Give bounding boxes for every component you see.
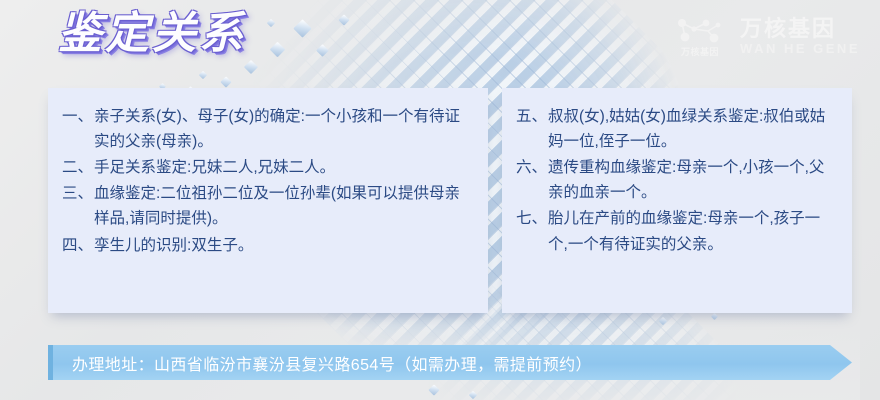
list-item: 一、 亲子关系(女)、母子(女)的确定:一个小孩和一个有待证实的父亲(母亲)。	[62, 104, 474, 154]
list-item: 七、 胎儿在产前的血缘鉴定:母亲一个,孩子一个,一个有待证实的父亲。	[516, 206, 838, 256]
scatter-cube-icon	[469, 391, 477, 399]
list-item-number: 三、	[62, 181, 94, 231]
list-item-text: 手足关系鉴定:兄妹二人,兄妹二人。	[94, 155, 474, 180]
brand-name-en: WAN HE GENE	[740, 42, 860, 56]
brand-name-cn: 万核基因	[740, 17, 860, 40]
content-panels: 一、 亲子关系(女)、母子(女)的确定:一个小孩和一个有待证实的父亲(母亲)。 …	[48, 88, 852, 313]
scatter-cube-icon	[293, 19, 311, 37]
list-item: 五、 叔叔(女),姑姑(女)血绿关系鉴定:叔伯或姑妈一位,侄子一位。	[516, 104, 838, 154]
list-item-number: 五、	[516, 104, 548, 154]
scatter-cube-icon	[220, 76, 231, 87]
molecule-network-icon	[674, 16, 726, 46]
scatter-cube-icon	[428, 384, 439, 395]
brand-mark: 万核基因	[674, 16, 726, 57]
list-item-number: 七、	[516, 206, 548, 256]
brand-wordmark: 万核基因 WAN HE GENE	[740, 17, 860, 56]
scatter-cube-icon	[270, 42, 286, 58]
list-item: 六、 遗传重构血缘鉴定:母亲一个,小孩一个,父亲的血亲一个。	[516, 155, 838, 205]
list-item-number: 一、	[62, 104, 94, 154]
address-ribbon: 办理地址：山西省临汾市襄汾县复兴路654号（如需办理，需提前预约）	[48, 345, 852, 380]
scatter-cube-icon	[659, 317, 667, 325]
list-item: 四、 孪生儿的识别:双生子。	[62, 233, 474, 258]
list-item: 三、 血缘鉴定:二位祖孙二位及一位孙辈(如果可以提供母亲样品,请同时提供)。	[62, 181, 474, 231]
scatter-cube-icon	[244, 60, 258, 74]
panel-left: 一、 亲子关系(女)、母子(女)的确定:一个小孩和一个有待证实的父亲(母亲)。 …	[48, 88, 488, 313]
scatter-cube-icon	[338, 14, 349, 25]
scatter-cube-icon	[199, 71, 207, 79]
scatter-cube-icon	[711, 313, 718, 320]
scatter-cube-icon	[316, 44, 329, 57]
scatter-cube-icon	[267, 19, 275, 27]
list-item-number: 二、	[62, 155, 94, 180]
address-ribbon-text: 办理地址：山西省临汾市襄汾县复兴路654号（如需办理，需提前预约）	[48, 351, 592, 375]
list-item: 二、 手足关系鉴定:兄妹二人,兄妹二人。	[62, 155, 474, 180]
list-item-text: 遗传重构血缘鉴定:母亲一个,小孩一个,父亲的血亲一个。	[548, 155, 838, 205]
list-item-text: 孪生儿的识别:双生子。	[94, 233, 474, 258]
panel-right: 五、 叔叔(女),姑姑(女)血绿关系鉴定:叔伯或姑妈一位,侄子一位。 六、 遗传…	[502, 88, 852, 313]
panel-divider-gap	[488, 88, 502, 313]
page-title-text: 鉴定关系	[58, 12, 246, 56]
list-item-text: 叔叔(女),姑姑(女)血绿关系鉴定:叔伯或姑妈一位,侄子一位。	[548, 104, 838, 154]
brand-logo: 万核基因 万核基因 WAN HE GENE	[674, 16, 860, 57]
brand-mark-label: 万核基因	[681, 48, 719, 57]
list-item-number: 六、	[516, 155, 548, 205]
list-item-number: 四、	[62, 233, 94, 258]
poster-root: 鉴定关系	[0, 0, 880, 400]
list-item-text: 胎儿在产前的血缘鉴定:母亲一个,孩子一个,一个有待证实的父亲。	[548, 206, 838, 256]
list-item-text: 亲子关系(女)、母子(女)的确定:一个小孩和一个有待证实的父亲(母亲)。	[94, 104, 474, 154]
page-title: 鉴定关系	[58, 12, 246, 56]
list-item-text: 血缘鉴定:二位祖孙二位及一位孙辈(如果可以提供母亲样品,请同时提供)。	[94, 181, 474, 231]
